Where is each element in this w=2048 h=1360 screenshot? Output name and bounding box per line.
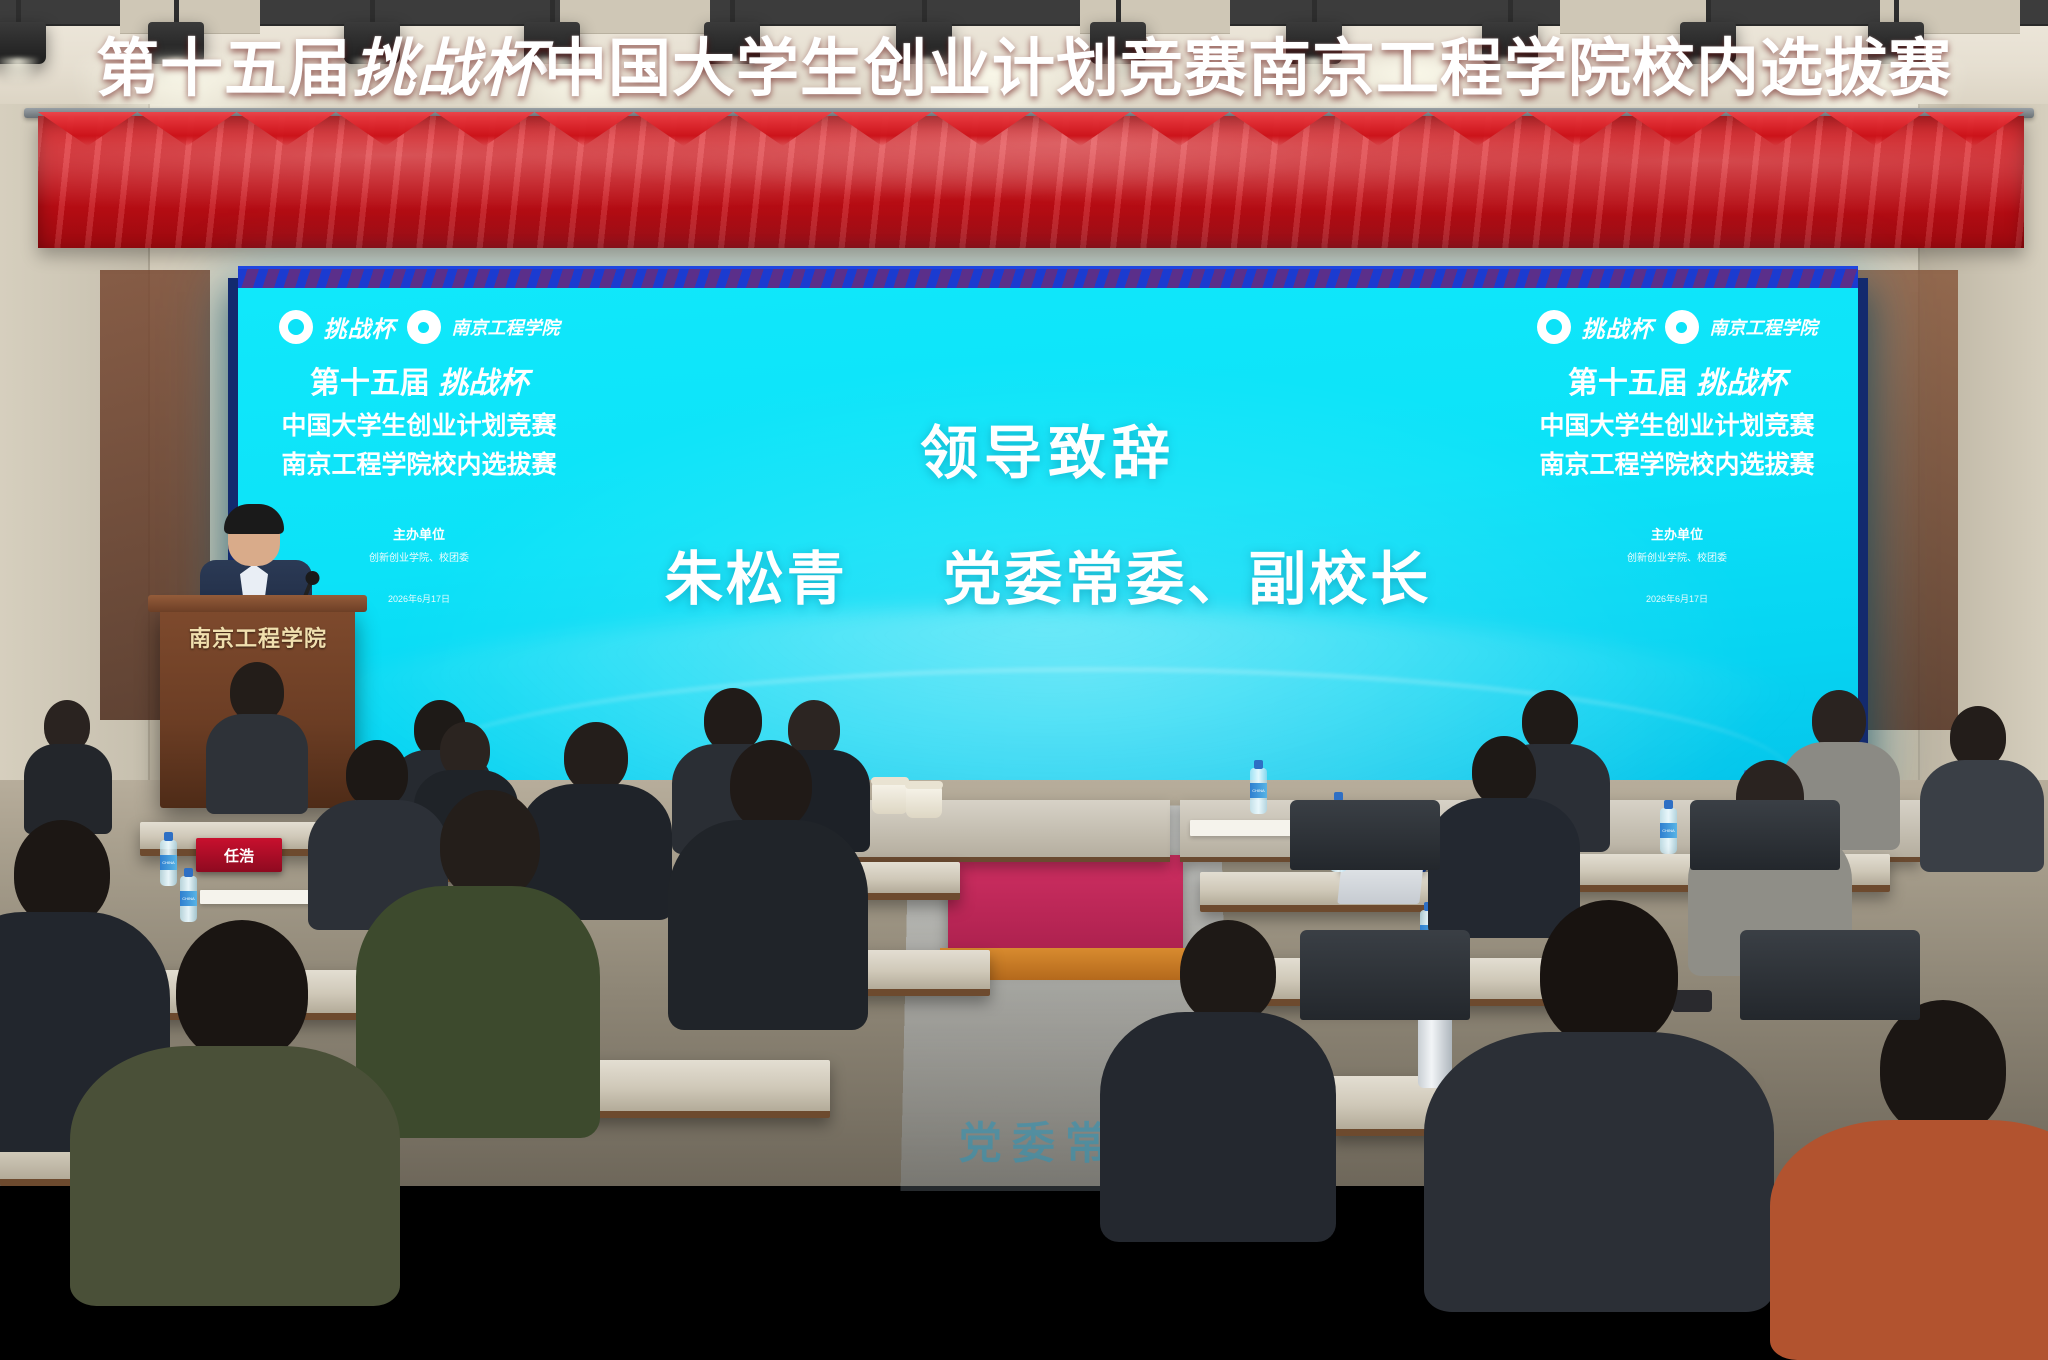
screen-right-line1-prefix: 第十五届 [1568, 367, 1688, 400]
screen-left-line1: 第十五届 挑战杯 [260, 366, 578, 402]
banner-title-cup: 挑战杯 [352, 31, 544, 105]
nameplate-label: 任浩 [224, 845, 254, 866]
table-nameplate: 任浩 [196, 838, 282, 872]
screen-right-organizer: 创新创业学院、校团委 [1518, 549, 1836, 564]
screen-left-line3: 南京工程学院校内选拔赛 [260, 450, 578, 481]
challenge-cup-logo-icon [1537, 310, 1571, 344]
water-bottle: CHINA [1660, 808, 1677, 854]
podium-nameplate: 南京工程学院 [174, 622, 342, 656]
bottle-label: CHINA [180, 891, 197, 906]
screen-right-logo-word-1: 挑战杯 [1582, 310, 1654, 344]
chair-back [1740, 930, 1920, 1020]
scene-root: 第十五届挑战杯中国大学生创业计划竞赛南京工程学院校内选拔赛 挑战杯 南京工程学院… [0, 0, 2048, 1186]
banner-scallop-decoration [38, 112, 2024, 146]
mobile-phone [1672, 990, 1712, 1012]
screen-right-panel: 挑战杯 南京工程学院 第十五届 挑战杯 中国大学生创业计划竞赛 南京工程学院校内… [1518, 310, 1836, 605]
university-logo-icon [1665, 310, 1699, 344]
podium-top [148, 595, 367, 612]
screen-speech-title: 领导致辞 [658, 406, 1438, 490]
banner-title-suffix: 中国大学生创业计划竞赛南京工程学院校内选拔赛 [544, 32, 1952, 105]
screen-left-line1-prefix: 第十五届 [310, 367, 430, 400]
screen-right-date: 2026年6月17日 [1518, 592, 1836, 605]
water-bottle: CHINA [180, 876, 197, 922]
screen-right-logo-word-2: 南京工程学院 [1710, 314, 1818, 340]
banner-title-prefix: 第十五届 [96, 32, 352, 105]
university-logo-icon [407, 310, 441, 344]
screen-right-line2: 中国大学生创业计划竞赛 [1518, 411, 1836, 442]
led-screen-frame: 挑战杯 南京工程学院 第十五届 挑战杯 中国大学生创业计划竞赛 南京工程学院校内… [228, 278, 1868, 798]
water-bottle: CHINA [160, 840, 177, 886]
tea-cup [872, 782, 908, 814]
screen-top-trim [238, 266, 1858, 288]
screen-left-line1-cup: 挑战杯 [438, 366, 528, 401]
challenge-cup-logo-icon [279, 310, 313, 344]
screen-left-line2: 中国大学生创业计划竞赛 [260, 411, 578, 442]
screen-right-organizer-label: 主办单位 [1518, 524, 1836, 543]
water-bottle: CHINA [1250, 768, 1267, 814]
screen-right-line1: 第十五届 挑战杯 [1518, 366, 1836, 402]
bottle-label: CHINA [1250, 783, 1267, 798]
screen-speaker-position: 党委常委、副校长 [943, 547, 1431, 612]
screen-center-block: 领导致辞 朱松青 党委常委、副校长 [658, 406, 1438, 616]
chair-back [1300, 930, 1470, 1020]
bottle-label: CHINA [160, 855, 177, 870]
screen-left-logo-row: 挑战杯 南京工程学院 [260, 310, 578, 344]
document-paper [200, 890, 320, 904]
screen-left-logo-word-2: 南京工程学院 [452, 314, 560, 340]
chair-back [1290, 800, 1440, 870]
screen-right-line1-cup: 挑战杯 [1696, 366, 1786, 401]
bottle-label: CHINA [1660, 823, 1677, 838]
document-paper [1190, 820, 1300, 836]
screen-right-logo-row: 挑战杯 南京工程学院 [1518, 310, 1836, 344]
led-screen: 挑战杯 南京工程学院 第十五届 挑战杯 中国大学生创业计划竞赛 南京工程学院校内… [238, 288, 1858, 788]
screen-speaker-line: 朱松青 党委常委、副校长 [658, 532, 1438, 616]
tea-cup [906, 786, 942, 818]
screen-speaker-name: 朱松青 [665, 547, 848, 612]
banner-title: 第十五届挑战杯中国大学生创业计划竞赛南京工程学院校内选拔赛 [0, 22, 2048, 115]
screen-right-line3: 南京工程学院校内选拔赛 [1518, 450, 1836, 481]
chair-back [1690, 800, 1840, 870]
screen-left-logo-word-1: 挑战杯 [324, 310, 396, 344]
